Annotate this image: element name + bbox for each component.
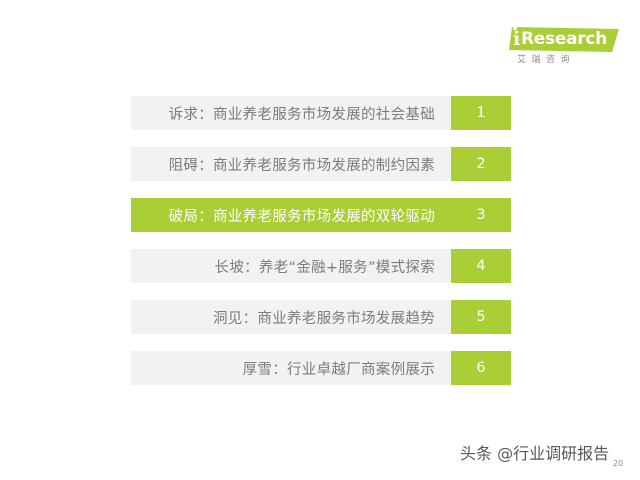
agenda-item-number: 3	[451, 198, 511, 232]
agenda-item-number: 5	[451, 300, 511, 334]
logo-subtitle-chinese: 艾瑞咨询	[517, 54, 617, 67]
agenda-item-label: 阻碍：商业养老服务市场发展的制约因素	[131, 147, 451, 181]
agenda-item-label: 长坡：养老“金融+服务”模式探索	[131, 249, 451, 283]
agenda-list: 诉求：商业养老服务市场发展的社会基础 1 阻碍：商业养老服务市场发展的制约因素 …	[131, 96, 511, 402]
iresearch-logo: i Research 艾瑞咨询	[503, 27, 619, 71]
agenda-item-number: 4	[451, 249, 511, 283]
agenda-item-1[interactable]: 诉求：商业养老服务市场发展的社会基础 1	[131, 96, 511, 130]
agenda-item-6[interactable]: 厚雪：行业卓越厂商案例展示 6	[131, 351, 511, 385]
agenda-item-number: 1	[451, 96, 511, 130]
agenda-item-label: 诉求：商业养老服务市场发展的社会基础	[131, 96, 451, 130]
watermark-text: 头条 @行业调研报告	[460, 444, 609, 464]
agenda-item-number: 6	[451, 351, 511, 385]
agenda-item-label: 厚雪：行业卓越厂商案例展示	[131, 351, 451, 385]
agenda-item-number: 2	[451, 147, 511, 181]
agenda-item-3[interactable]: 破局：商业养老服务市场发展的双轮驱动 3	[131, 198, 511, 232]
page-number: 20	[613, 459, 623, 469]
logo-wordmark: Research	[521, 28, 607, 51]
agenda-item-2[interactable]: 阻碍：商业养老服务市场发展的制约因素 2	[131, 147, 511, 181]
agenda-item-label: 破局：商业养老服务市场发展的双轮驱动	[131, 198, 451, 232]
agenda-item-4[interactable]: 长坡：养老“金融+服务”模式探索 4	[131, 249, 511, 283]
agenda-item-label: 洞见：商业养老服务市场发展趋势	[131, 300, 451, 334]
agenda-item-5[interactable]: 洞见：商业养老服务市场发展趋势 5	[131, 300, 511, 334]
logo-letter-i: i	[513, 29, 518, 50]
